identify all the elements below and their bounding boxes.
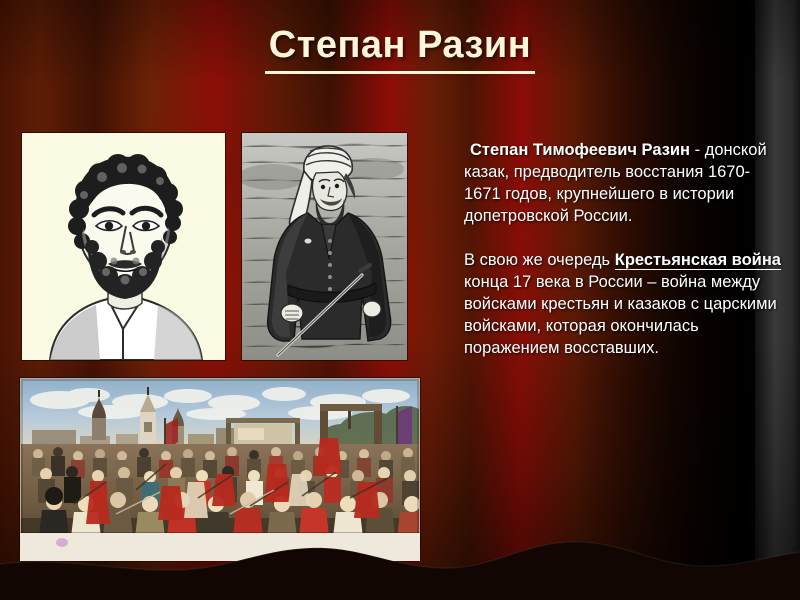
painting-paper-margin xyxy=(20,533,420,561)
presentation-slide: Степан Разин xyxy=(0,0,800,600)
paragraph-razin-bio: Степан Тимофеевич Разин - донской казак,… xyxy=(464,140,784,228)
portrait-engraving-razin xyxy=(22,133,225,360)
paragraph-2-intro: В свою же очередь xyxy=(464,251,615,269)
portrait-row xyxy=(22,133,407,360)
uprising-painting xyxy=(20,378,420,546)
paragraph-2-rest: конца 17 века в России – война между вой… xyxy=(464,273,777,357)
paragraph-peasant-war: В свою же очередь Крестьянская война кон… xyxy=(464,250,784,360)
full-length-engraving-razin xyxy=(242,133,407,360)
body-text-column: Степан Тимофеевич Разин - донской казак,… xyxy=(464,140,784,359)
page-title: Степан Разин xyxy=(265,26,535,74)
slide-title-container: Степан Разин xyxy=(0,26,800,74)
bold-term-peasant-war: Крестьянская война xyxy=(615,251,781,270)
bold-lead-name: Степан Тимофеевич Разин xyxy=(470,141,690,159)
paper-stain xyxy=(56,538,68,547)
